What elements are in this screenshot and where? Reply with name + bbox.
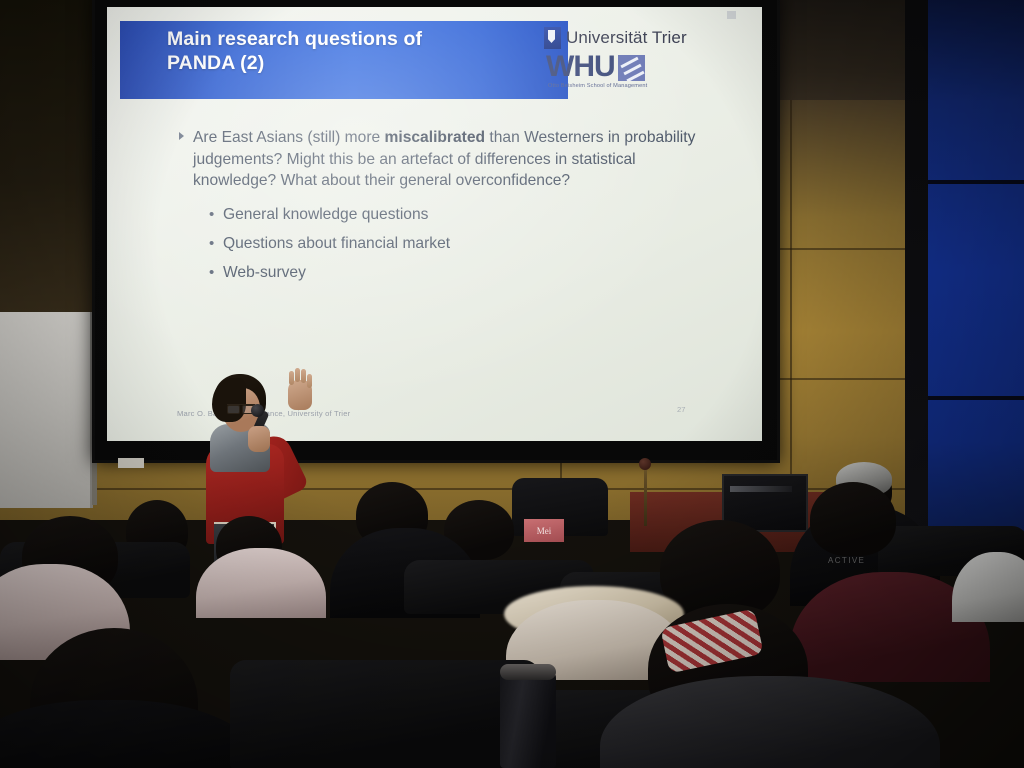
lecture-hall-scene: Main research questions of PANDA (2) Uni… [0, 0, 1024, 768]
gooseneck-microphone-stem [644, 464, 647, 526]
slide-title-line1: Main research questions of [167, 27, 567, 51]
presenter-hair-front [212, 378, 246, 422]
wall-seam [790, 100, 792, 520]
sub-bullet-item: Questions about financial market [209, 229, 699, 258]
main-bullet: Are East Asians (still) more miscalibrat… [179, 127, 699, 192]
sub-bullet-list: General knowledge questions Questions ab… [209, 200, 699, 287]
main-bullet-part1: Are East Asians (still) more [193, 129, 385, 146]
name-placard: Mei [524, 519, 564, 542]
arrow-bullet-icon [179, 132, 184, 140]
monitor-reflection [730, 486, 792, 492]
presenter-mic-hand [248, 426, 270, 452]
blue-panel-divider [928, 180, 1024, 184]
slide-title-line2: PANDA (2) [167, 51, 567, 75]
main-bullet-emphasis: miscalibrated [385, 129, 486, 146]
school-tagline: Otto Beisheim School of Management [548, 83, 647, 89]
corner-marker [727, 11, 736, 19]
shield-icon [544, 27, 561, 49]
sub-bullet-item: General knowledge questions [209, 200, 699, 229]
slide-number: 27 [677, 405, 685, 414]
whu-mark-icon [618, 55, 645, 81]
slide-body: Are East Asians (still) more miscalibrat… [179, 127, 699, 287]
blue-panel-divider [928, 396, 1024, 400]
university-trier-logo: Universität Trier [544, 27, 687, 49]
whu-acronym: WHU [546, 53, 615, 81]
left-wall-shadow [0, 0, 92, 330]
name-placard-text: Mei [537, 526, 552, 536]
microphone-head [251, 404, 264, 417]
blue-wall-panel [928, 0, 1024, 566]
university-name: Universität Trier [566, 28, 687, 48]
whu-logo: WHU [546, 53, 645, 81]
presenter-raised-hand [288, 380, 312, 410]
slide-logos: Universität Trier WHU Otto Beisheim Scho… [544, 13, 759, 105]
slide-title: Main research questions of PANDA (2) [167, 27, 567, 75]
whiteboard [0, 312, 93, 508]
gooseneck-microphone-head [639, 458, 651, 470]
sub-bullet-item: Web-survey [209, 258, 699, 287]
screen-mount-bracket [118, 458, 144, 468]
